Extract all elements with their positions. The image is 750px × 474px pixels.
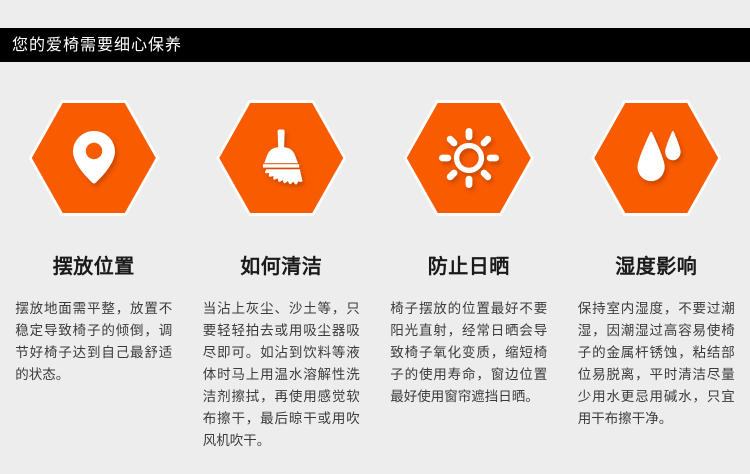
card-title: 摆放位置 — [53, 254, 135, 278]
page-title: 您的爱椅需要细心保养 — [0, 28, 182, 62]
card-body-text: 椅子摆放的位置最好不要阳光直射，经常日晒会导致椅子氧化变质，缩短椅子的使用寿命，… — [390, 298, 547, 408]
care-tips-row: 摆放位置 摆放地面需平整，放置不稳定导致椅子的倾倒，调节好椅子达到自己最舒适的状… — [0, 100, 750, 452]
hexagon-badge-cleaning — [216, 100, 346, 216]
hexagon-badge-sunlight — [404, 100, 534, 216]
page-header-bar: 您的爱椅需要细心保养 — [0, 28, 750, 62]
card-title: 湿度影响 — [615, 254, 697, 278]
water-droplets-icon — [625, 127, 687, 189]
card-body-text: 摆放地面需平整，放置不稳定导致椅子的倾倒，调节好椅子达到自己最舒适的状态。 — [15, 298, 172, 386]
card-title: 防止日晒 — [428, 254, 510, 278]
maintenance-info-page: 您的爱椅需要细心保养 摆放位置 摆放地面需平整，放置不稳定导致椅子的倾倒，调节好… — [0, 0, 750, 474]
care-tip-card-cleaning: 如何清洁 当沾上灰尘、沙土等，只要轻轻拍去或用吸尘器吸尽即可。如沾到饮料等液体时… — [188, 100, 376, 452]
care-tip-card-sunlight: 防止日晒 椅子摆放的位置最好不要阳光直射，经常日晒会导致椅子氧化变质，缩短椅子的… — [375, 100, 563, 408]
sun-icon — [438, 127, 500, 189]
card-body-text: 当沾上灰尘、沙土等，只要轻轻拍去或用吸尘器吸尽即可。如沾到饮料等液体时马上用温水… — [203, 298, 360, 452]
care-tip-card-placement: 摆放位置 摆放地面需平整，放置不稳定导致椅子的倾倒，调节好椅子达到自己最舒适的状… — [0, 100, 188, 386]
card-title: 如何清洁 — [240, 254, 322, 278]
hexagon-badge-placement — [29, 100, 159, 216]
care-tip-card-humidity: 湿度影响 保持室内湿度，不要过潮湿，因潮湿过高容易使椅子的金属杆锈蚀，粘结部位易… — [563, 100, 750, 430]
cleaning-brush-icon — [250, 127, 312, 189]
location-pin-icon — [63, 127, 125, 189]
hexagon-badge-humidity — [591, 100, 721, 216]
card-body-text: 保持室内湿度，不要过潮湿，因潮湿过高容易使椅子的金属杆锈蚀，粘结部位易脱离，平时… — [578, 298, 735, 430]
